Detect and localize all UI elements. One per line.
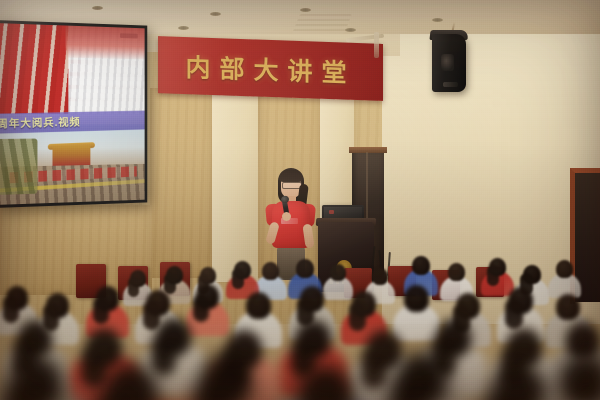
speaker-tweeter <box>443 82 458 87</box>
speaker-cabinet <box>432 34 466 92</box>
tiananmen-scene <box>0 124 145 205</box>
projection-screen: 0周年大阅兵.视频 <box>0 20 147 208</box>
audience-member-head <box>492 364 546 400</box>
presenter-fringe <box>279 170 303 182</box>
banner-mount-bracket <box>374 32 379 58</box>
laptop-indicator <box>329 210 334 214</box>
audience-seating <box>0 248 600 400</box>
air-vent <box>292 14 352 34</box>
audience-member-head <box>396 352 448 400</box>
stage-doorway-frame <box>349 147 387 153</box>
speaker-woofer <box>441 54 454 71</box>
parade-grandstand-band <box>66 26 145 60</box>
projected-image: 0周年大阅兵.视频 <box>0 23 145 205</box>
lecture-hall-photo: 内部大讲堂 0周年大阅兵.视频 <box>0 0 600 400</box>
downlight-6 <box>432 18 443 22</box>
audience-member-head <box>298 366 353 400</box>
downlight-2 <box>300 8 311 12</box>
downlight-4 <box>178 26 189 30</box>
projection-overlay-text: 0周年大阅兵.视频 <box>0 114 80 132</box>
projector-indicator <box>120 33 138 38</box>
audience-row-front <box>0 248 600 400</box>
red-hall-banner: 内部大讲堂 <box>158 36 383 101</box>
downlight-5 <box>92 6 103 10</box>
military-vehicles <box>0 139 37 195</box>
audience-member-head <box>104 364 158 400</box>
downlight-1 <box>210 12 221 16</box>
wall-mounted-loudspeaker <box>428 26 472 98</box>
presenter-hand <box>282 212 291 221</box>
audience-member-head <box>200 354 252 400</box>
audience-member-head <box>10 356 62 400</box>
audience-member-head <box>560 354 600 400</box>
downlight-3 <box>345 28 356 32</box>
